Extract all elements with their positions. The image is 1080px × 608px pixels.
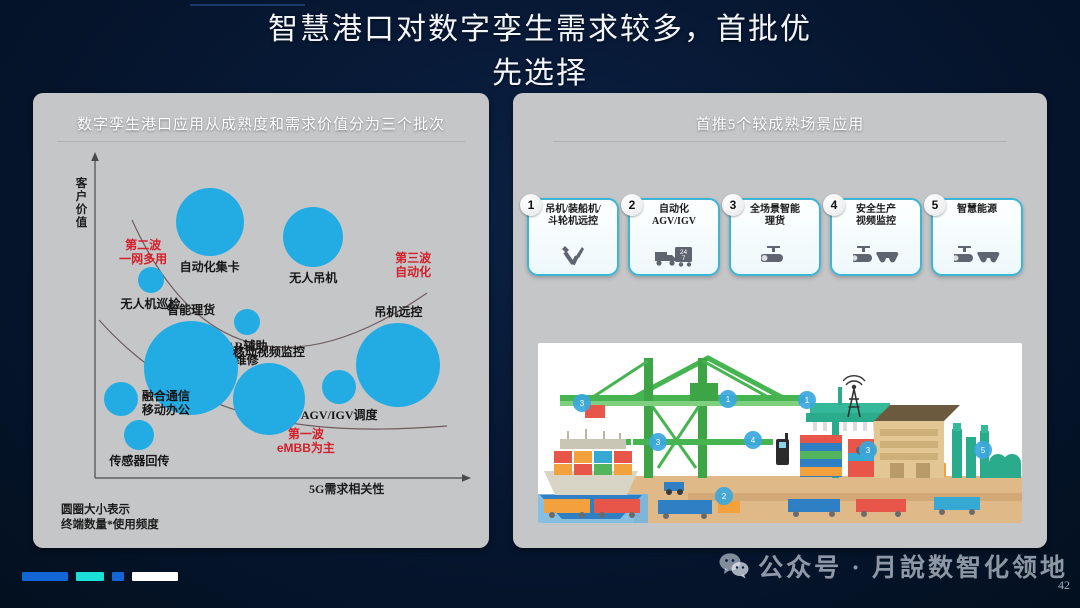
bubble-2 <box>283 207 343 267</box>
svg-text:7: 7 <box>682 255 686 262</box>
wave-annotation-2: 第三波 自动化 <box>374 251 452 279</box>
bubble-label-8: AGV/IGV调度 <box>291 408 387 422</box>
svg-text:1: 1 <box>805 396 810 405</box>
bubble-7 <box>233 363 305 435</box>
bubble-8 <box>322 370 356 404</box>
bubble-9 <box>104 382 138 416</box>
bubble-label-7: 移动视频监控 <box>221 345 317 359</box>
bubble-3 <box>138 267 164 293</box>
card-label-5: 智慧能源 <box>936 204 1018 216</box>
progress-segment-3[interactable] <box>112 572 124 581</box>
cctv-glasses-icon <box>832 243 920 269</box>
x-axis-label: 5G需求相关性 <box>309 483 384 496</box>
bubble-label-5: 智能理货 <box>143 303 239 317</box>
watermark: 公众号 · 月說数智化领地 <box>719 545 1068 587</box>
progress-segment-4[interactable] <box>132 572 178 581</box>
page-title: 智慧港口对数字孪生需求较多，首批优 先选择 <box>0 8 1080 96</box>
wave-annotation-1: 第二波 一网多用 <box>104 238 182 266</box>
card-label-4: 安全生产 视频监控 <box>835 204 917 228</box>
card-label-1: 吊机/装船机/ 斗轮机远控 <box>532 204 614 228</box>
y-axis-label: 客户价值 <box>75 178 89 230</box>
svg-text:4: 4 <box>751 436 756 445</box>
svg-text:3: 3 <box>580 399 585 408</box>
port-scene-svg: 1 3 3 4 2 1 3 5 <box>538 343 1022 523</box>
bubble-6 <box>356 323 440 407</box>
card-label-2: 自动化 AGV/IGV <box>633 204 715 228</box>
svg-text:3: 3 <box>866 446 871 455</box>
bubble-label-2: 无人吊机 <box>265 271 361 285</box>
wechat-icon <box>719 553 749 579</box>
svg-text:2: 2 <box>722 492 727 501</box>
page-number: 42 <box>1058 578 1070 593</box>
truck-247-icon: 247 <box>630 243 718 269</box>
scenario-card-list: 1吊机/装船机/ 斗轮机远控2自动化 AGV/IGV2473全场景智能 理货4安… <box>527 188 1033 280</box>
left-panel-heading: 数字孪生港口应用从成熟度和需求价值分为三个批次 <box>57 113 465 142</box>
right-panel: 首推5个较成熟场景应用 1吊机/装船机/ 斗轮机远控2自动化 AGV/IGV24… <box>513 93 1047 548</box>
cctv-glasses-icon <box>933 243 1021 269</box>
right-panel-heading: 首推5个较成熟场景应用 <box>553 113 1007 142</box>
progress-segment-1[interactable] <box>22 572 68 581</box>
smart-port-illustration: 1 3 3 4 2 1 3 5 <box>538 343 1022 523</box>
wave-annotation-3: 第一波 eMBB为主 <box>267 427 345 455</box>
scenario-card-5[interactable]: 5智慧能源 <box>931 198 1023 276</box>
bubble-label-9: 融合通信 移动办公 <box>142 389 222 417</box>
card-label-3: 全场景智能 理货 <box>734 204 816 228</box>
cctv-camera-icon <box>731 243 819 269</box>
scenario-card-4[interactable]: 4安全生产 视频监控 <box>830 198 922 276</box>
bubble-1 <box>176 188 244 256</box>
svg-text:3: 3 <box>656 438 661 447</box>
bubble-label-6: 吊机远控 <box>350 305 446 319</box>
scenario-card-3[interactable]: 3全场景智能 理货 <box>729 198 821 276</box>
progress-tail-line <box>190 4 305 6</box>
bubble-label-10: 传感器回传 <box>91 454 187 468</box>
progress-indicator[interactable] <box>22 572 322 582</box>
chart-size-note: 圆圈大小表示 终端数量*使用频度 <box>61 503 159 533</box>
heading-rule <box>553 141 1007 142</box>
watermark-text: 公众号 · 月說数智化领地 <box>758 548 1068 584</box>
left-panel: 数字孪生港口应用从成熟度和需求价值分为三个批次 客户价值 5G需求相关性 圆圈大… <box>33 93 489 548</box>
svg-text:5: 5 <box>981 446 986 455</box>
slide-root: 智慧港口对数字孪生需求较多，首批优 先选择 数字孪生港口应用从成熟度和需求价值分… <box>0 0 1080 608</box>
tools-icon <box>529 243 617 269</box>
left-panel-heading-text: 数字孪生港口应用从成熟度和需求价值分为三个批次 <box>77 117 445 133</box>
svg-text:1: 1 <box>726 395 731 404</box>
progress-segment-2[interactable] <box>76 572 104 581</box>
right-panel-heading-text: 首推5个较成熟场景应用 <box>696 117 865 133</box>
scenario-card-2[interactable]: 2自动化 AGV/IGV247 <box>628 198 720 276</box>
heading-rule <box>57 141 465 142</box>
bubble-chart: 客户价值 5G需求相关性 圆圈大小表示 终端数量*使用频度 自动化集卡无人吊机无… <box>47 148 477 538</box>
scenario-card-1[interactable]: 1吊机/装船机/ 斗轮机远控 <box>527 198 619 276</box>
